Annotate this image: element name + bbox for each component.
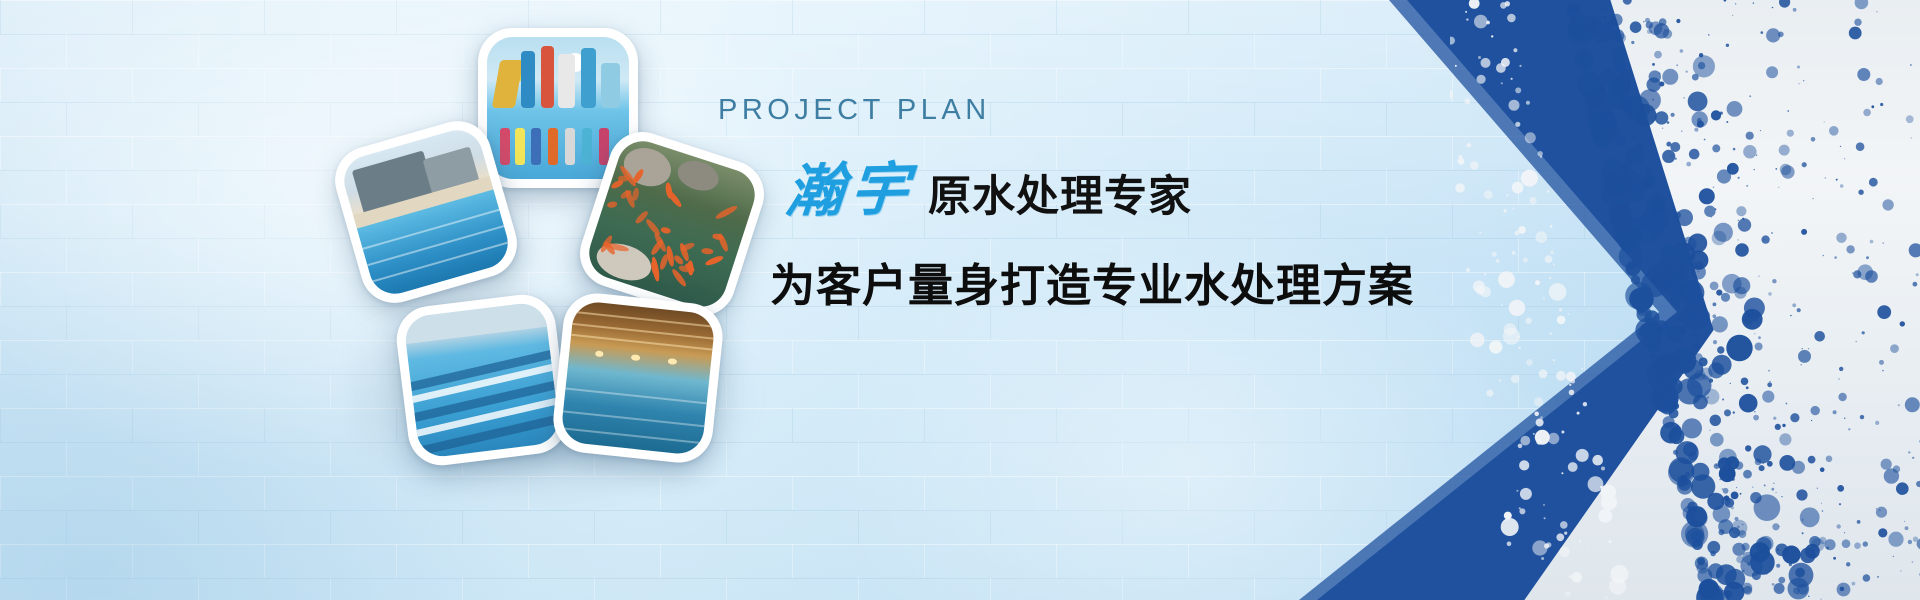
- photo-frame-indoor-pool[interactable]: [550, 290, 726, 466]
- photo-water-park-icon: [487, 37, 629, 179]
- banner-copy: PROJECT PLAN 瀚宇 原水处理专家 为客户量身打造专业水处理方案: [718, 96, 1318, 308]
- headline-row: 瀚宇 原水处理专家: [786, 161, 1318, 219]
- promo-banner: PROJECT PLAN 瀚宇 原水处理专家 为客户量身打造专业水处理方案: [0, 0, 1920, 600]
- tagline-text: 为客户量身打造专业水处理方案: [770, 263, 1318, 308]
- photo-resort-pool-icon: [338, 124, 514, 300]
- photo-collage: [330, 14, 770, 484]
- brand-name: 瀚宇: [783, 160, 916, 221]
- brand-subtitle: 原水处理专家: [928, 176, 1192, 219]
- photo-indoor-pool-icon: [560, 300, 716, 456]
- photo-lap-pool-icon: [403, 301, 561, 459]
- eyebrow-text: PROJECT PLAN: [718, 96, 1318, 125]
- photo-frame-lap-pool[interactable]: [393, 291, 571, 469]
